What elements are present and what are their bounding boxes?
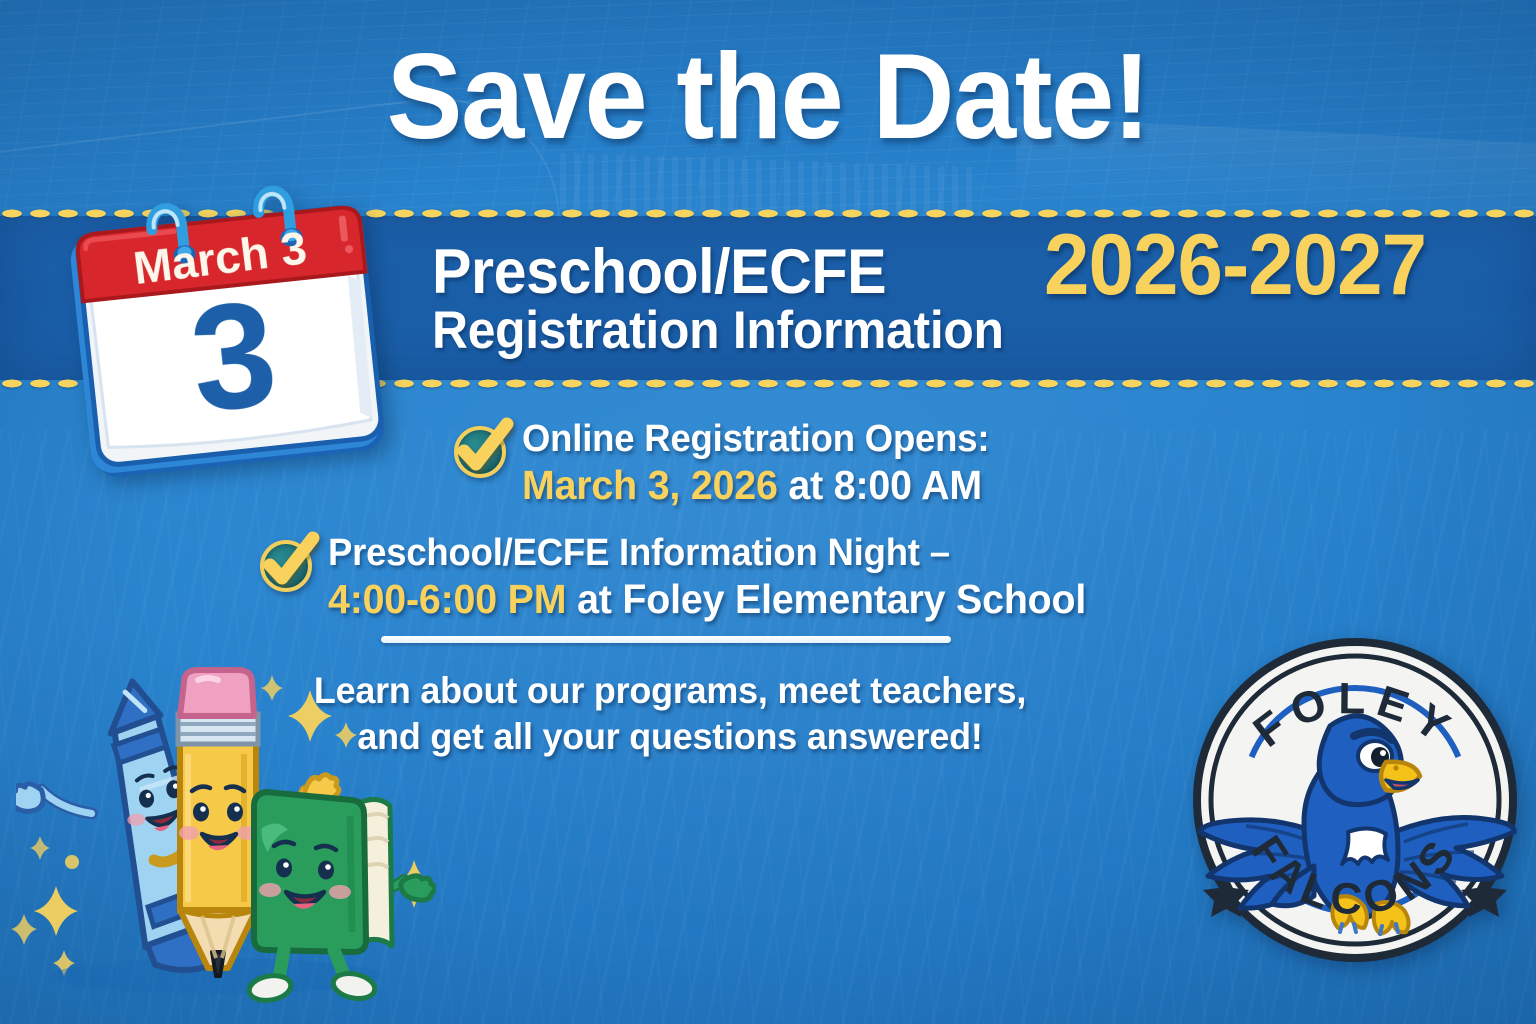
bullet-1-time: at 8:00 AM bbox=[778, 462, 982, 508]
registration-subtitle: Registration Information bbox=[432, 300, 1004, 361]
book-character bbox=[247, 792, 435, 1003]
check-badge-icon bbox=[258, 538, 314, 594]
bullet-information-night: Preschool/ECFE Information Night – 4:00-… bbox=[258, 534, 1118, 620]
check-badge-icon bbox=[452, 424, 508, 480]
bullet-2-line-1: Preschool/ECFE Information Night – bbox=[328, 534, 1086, 574]
calendar-graphic: March 3 3 bbox=[50, 160, 413, 523]
bullet-registration-opens: Online Registration Opens: March 3, 2026… bbox=[452, 420, 1009, 506]
calendar-day-number: 3 bbox=[183, 268, 284, 444]
page-title: Save the Date! bbox=[54, 32, 1482, 160]
title-block: Preschool/ECFE 2026-2027 Registration In… bbox=[432, 222, 1522, 372]
bullet-1-date: March 3, 2026 bbox=[522, 462, 778, 508]
school-year-label: 2026-2027 bbox=[1044, 216, 1426, 315]
program-title: Preschool/ECFE bbox=[432, 236, 886, 308]
title-row-primary: Preschool/ECFE bbox=[432, 236, 915, 308]
foley-falcons-logo: FOLEY FALCONS bbox=[1190, 628, 1520, 973]
bullet-2-location: at Foley Elementary School bbox=[566, 576, 1086, 622]
bullet-1-line-1: Online Registration Opens: bbox=[522, 420, 989, 460]
section-divider bbox=[381, 636, 951, 643]
bullet-2-time: 4:00-6:00 PM bbox=[328, 576, 566, 622]
school-supply-characters bbox=[16, 658, 436, 1008]
poster-canvas: Save the Date! Preschool/ECFE 2026-2027 … bbox=[0, 0, 1536, 1024]
